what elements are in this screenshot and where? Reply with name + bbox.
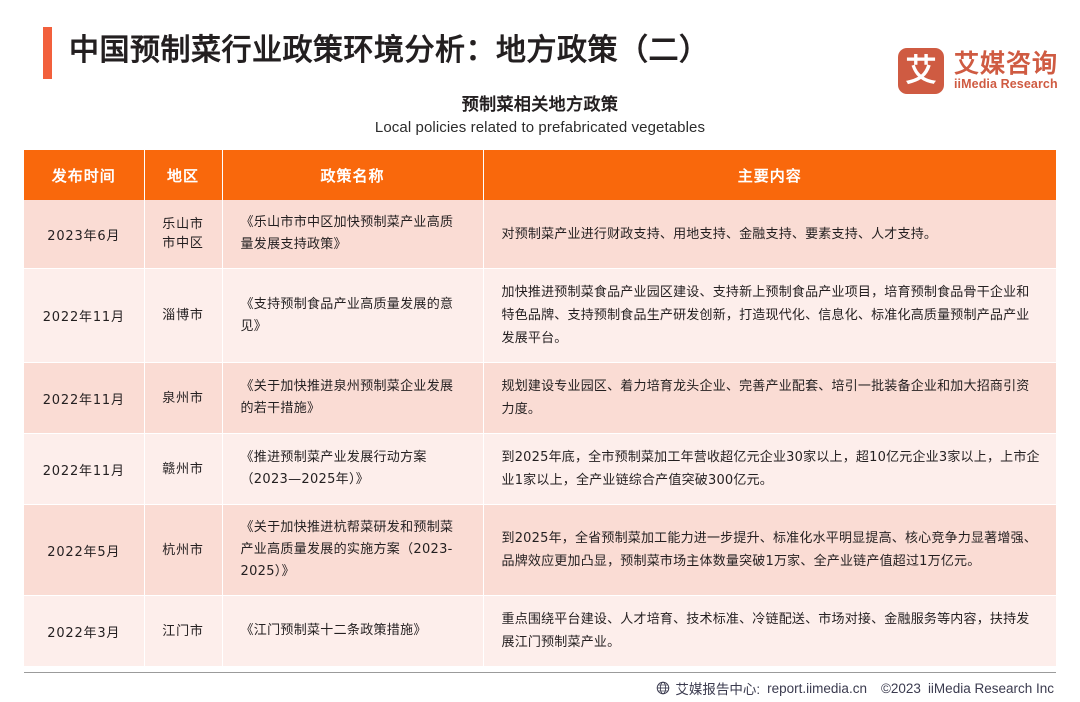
cell-policy: 《乐山市市中区加快预制菜产业高质量发展支持政策》 [222, 200, 483, 269]
column-header-policy: 政策名称 [222, 150, 483, 200]
policy-table: 发布时间 地区 政策名称 主要内容 2023年6月乐山市市中区《乐山市市中区加快… [24, 150, 1056, 667]
brand-logo: 艾 艾媒咨询 iiMedia Research [898, 48, 1058, 94]
logo-text: 艾媒咨询 iiMedia Research [954, 50, 1058, 92]
column-header-region: 地区 [144, 150, 222, 200]
table-row: 2022年11月赣州市《推进预制菜产业发展行动方案（2023—2025年）》到2… [24, 434, 1056, 505]
table-row: 2022年11月泉州市《关于加快推进泉州预制菜企业发展的若干措施》规划建设专业园… [24, 363, 1056, 434]
subtitle-chinese: 预制菜相关地方政策 [0, 90, 1080, 115]
cell-time: 2022年11月 [24, 434, 144, 505]
cell-policy: 《关于加快推进泉州预制菜企业发展的若干措施》 [222, 363, 483, 434]
cell-content: 对预制菜产业进行财政支持、用地支持、金融支持、要素支持、人才支持。 [483, 200, 1056, 269]
title-block: 中国预制菜行业政策环境分析：地方政策（二） [43, 26, 710, 79]
cell-content: 加快推进预制菜食品产业园区建设、支持新上预制食品产业项目，培育预制食品骨干企业和… [483, 269, 1056, 363]
slide-page: 中国预制菜行业政策环境分析：地方政策（二） 艾 艾媒咨询 iiMedia Res… [0, 0, 1080, 702]
cell-time: 2023年6月 [24, 200, 144, 269]
cell-content: 规划建设专业园区、着力培育龙头企业、完善产业配套、培引一批装备企业和加大招商引资… [483, 363, 1056, 434]
table-row: 2022年5月杭州市《关于加快推进杭帮菜研发和预制菜产业高质量发展的实施方案（2… [24, 505, 1056, 596]
cell-time: 2022年11月 [24, 363, 144, 434]
table-row: 2023年6月乐山市市中区《乐山市市中区加快预制菜产业高质量发展支持政策》对预制… [24, 200, 1056, 269]
page-header: 中国预制菜行业政策环境分析：地方政策（二） 艾 艾媒咨询 iiMedia Res… [0, 22, 1080, 88]
cell-time: 2022年5月 [24, 505, 144, 596]
table-row: 2022年3月江门市《江门预制菜十二条政策措施》重点围绕平台建设、人才培育、技术… [24, 596, 1056, 667]
logo-mark-icon: 艾 [898, 48, 944, 94]
table-head: 发布时间 地区 政策名称 主要内容 [24, 150, 1056, 200]
cell-content: 到2025年，全省预制菜加工能力进一步提升、标准化水平明显提高、核心竞争力显著增… [483, 505, 1056, 596]
column-header-time: 发布时间 [24, 150, 144, 200]
cell-content: 重点围绕平台建设、人才培育、技术标准、冷链配送、市场对接、金融服务等内容，扶持发… [483, 596, 1056, 667]
cell-region: 赣州市 [144, 434, 222, 505]
cell-time: 2022年3月 [24, 596, 144, 667]
subtitle-english: Local policies related to prefabricated … [0, 119, 1080, 136]
cell-region: 淄博市 [144, 269, 222, 363]
cell-region: 泉州市 [144, 363, 222, 434]
cell-time: 2022年11月 [24, 269, 144, 363]
footer-copyright: ©2023 [881, 681, 921, 696]
globe-icon [656, 681, 670, 695]
footer-company: iiMedia Research Inc [928, 681, 1054, 696]
table-row: 2022年11月淄博市《支持预制食品产业高质量发展的意见》加快推进预制菜食品产业… [24, 269, 1056, 363]
policy-table-wrapper: 发布时间 地区 政策名称 主要内容 2023年6月乐山市市中区《乐山市市中区加快… [24, 150, 1056, 667]
accent-bar-icon [43, 27, 52, 79]
cell-policy: 《支持预制食品产业高质量发展的意见》 [222, 269, 483, 363]
cell-policy: 《江门预制菜十二条政策措施》 [222, 596, 483, 667]
logo-name-cn: 艾媒咨询 [954, 50, 1058, 77]
page-footer: 艾媒报告中心: report.iimedia.cn ©2023 iiMedia … [656, 678, 1054, 698]
footer-source-label: 艾媒报告中心: [675, 678, 760, 698]
cell-policy: 《推进预制菜产业发展行动方案（2023—2025年）》 [222, 434, 483, 505]
table-header-row: 发布时间 地区 政策名称 主要内容 [24, 150, 1056, 200]
footer-url[interactable]: report.iimedia.cn [767, 681, 867, 696]
cell-policy: 《关于加快推进杭帮菜研发和预制菜产业高质量发展的实施方案（2023-2025）》 [222, 505, 483, 596]
table-body: 2023年6月乐山市市中区《乐山市市中区加快预制菜产业高质量发展支持政策》对预制… [24, 200, 1056, 667]
column-header-content: 主要内容 [483, 150, 1056, 200]
cell-region: 江门市 [144, 596, 222, 667]
cell-region: 乐山市市中区 [144, 200, 222, 269]
cell-region: 杭州市 [144, 505, 222, 596]
footer-divider [24, 672, 1056, 673]
cell-content: 到2025年底，全市预制菜加工年营收超亿元企业30家以上，超10亿元企业3家以上… [483, 434, 1056, 505]
page-title: 中国预制菜行业政策环境分析：地方政策（二） [69, 26, 710, 76]
